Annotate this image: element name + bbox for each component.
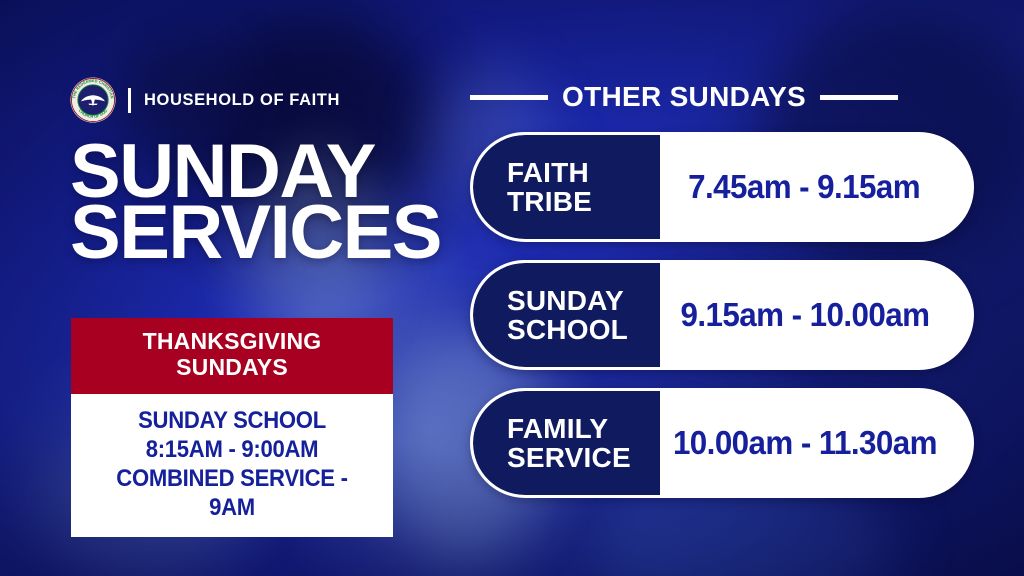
service-name-line1: FAMILY: [507, 414, 660, 443]
thanksgiving-body: SUNDAY SCHOOL 8:15AM - 9:00AM COMBINED S…: [71, 394, 393, 537]
thanksgiving-heading-line1: THANKSGIVING: [79, 329, 385, 355]
service-row: SUNDAY SCHOOL 9.15am - 10.00am: [470, 260, 974, 370]
other-sundays-heading: OTHER SUNDAYS: [562, 81, 806, 113]
brand-divider: [128, 88, 131, 113]
thanksgiving-heading: THANKSGIVING SUNDAYS: [71, 318, 393, 394]
other-sundays-section: OTHER SUNDAYS FAITH TRIBE 7.45am - 9.15a…: [470, 80, 974, 498]
page-title-line2: SERVICES: [70, 203, 470, 264]
left-column: THE REDEEMED CHRISTIAN CHURCH OF GOD HOU…: [70, 74, 470, 264]
service-row: FAMILY SERVICE 10.00am - 11.30am: [470, 388, 974, 498]
thanksgiving-card: THANKSGIVING SUNDAYS SUNDAY SCHOOL 8:15A…: [71, 318, 393, 537]
brand-name: HOUSEHOLD OF FAITH: [144, 91, 340, 110]
service-name-block: FAMILY SERVICE: [473, 391, 660, 495]
thanksgiving-heading-line2: SUNDAYS: [79, 355, 385, 381]
service-time-block: 7.45am - 9.15am: [660, 135, 971, 239]
other-sundays-header: OTHER SUNDAYS: [470, 80, 974, 114]
service-name-line2: SERVICE: [507, 443, 660, 472]
header-rule-left-icon: [470, 95, 548, 100]
thanksgiving-line: 8:15AM - 9:00AM: [91, 435, 373, 464]
service-time: 9.15am - 10.00am: [680, 296, 929, 334]
thanksgiving-line: COMBINED SERVICE - 9AM: [91, 464, 373, 523]
service-name-line2: SCHOOL: [507, 315, 660, 344]
service-name-line1: SUNDAY: [507, 286, 660, 315]
service-time: 7.45am - 9.15am: [689, 168, 921, 206]
brand-lockup: THE REDEEMED CHRISTIAN CHURCH OF GOD HOU…: [70, 74, 470, 126]
service-time-block: 10.00am - 11.30am: [660, 391, 971, 495]
rccg-seal-icon: THE REDEEMED CHRISTIAN CHURCH OF GOD: [70, 77, 116, 123]
service-name-line1: FAITH: [507, 158, 660, 187]
service-name-block: SUNDAY SCHOOL: [473, 263, 660, 367]
service-name-line2: TRIBE: [507, 187, 660, 216]
service-row: FAITH TRIBE 7.45am - 9.15am: [470, 132, 974, 242]
service-time: 10.00am - 11.30am: [673, 424, 937, 462]
thanksgiving-line: SUNDAY SCHOOL: [91, 406, 373, 435]
page-title: SUNDAY SERVICES: [70, 142, 470, 264]
service-time-block: 9.15am - 10.00am: [660, 263, 971, 367]
service-name-block: FAITH TRIBE: [473, 135, 660, 239]
header-rule-right-icon: [820, 95, 898, 100]
